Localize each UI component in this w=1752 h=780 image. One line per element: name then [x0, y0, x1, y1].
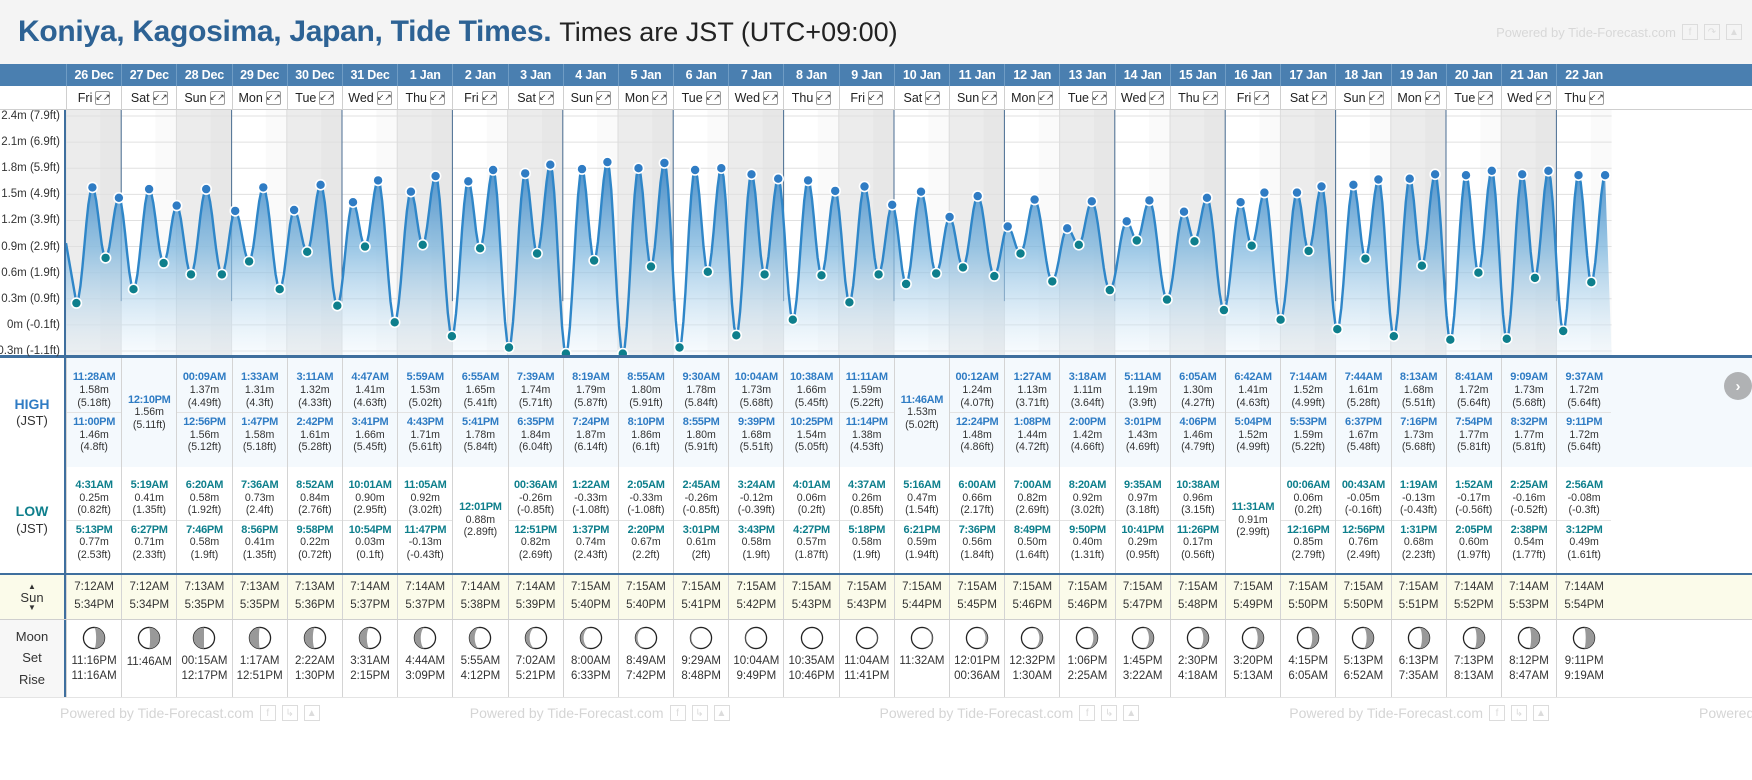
tide-event-meters: 1.61m: [300, 429, 329, 442]
low-tide-point[interactable]: [675, 343, 685, 353]
sunset-time: 5:51PM: [1399, 599, 1439, 613]
low-tide-cell[interactable]: 10:38AM0.96m(3.15ft)11:26PM0.17m(0.56ft): [1170, 467, 1225, 573]
low-tide-cell[interactable]: 7:00AM0.82m(2.69ft)8:49PM0.50m(1.64ft): [1004, 467, 1059, 573]
low-tide-point[interactable]: [1190, 236, 1200, 246]
high-tide-point[interactable]: [1600, 170, 1610, 180]
tide-event-time: 10:01AM: [348, 479, 391, 492]
low-tide-point[interactable]: [1530, 273, 1540, 283]
low-tide-point[interactable]: [1219, 305, 1229, 315]
high-tide-point[interactable]: [1144, 195, 1154, 205]
high-tide-cell[interactable]: 8:13AM1.68m(5.51ft)7:16PM1.73m(5.68ft): [1391, 358, 1446, 467]
high-tide-point[interactable]: [258, 182, 268, 192]
high-tide-point[interactable]: [520, 168, 530, 178]
sun-cell: 7:15AM5:42PM: [728, 575, 783, 619]
high-tide-point[interactable]: [602, 157, 612, 167]
low-tide-cell[interactable]: 1:19AM-0.13m(-0.43ft)1:31PM0.68m(2.23ft): [1391, 467, 1446, 573]
date-header-cell[interactable]: 22 Jan: [1556, 64, 1611, 86]
weekday-header-cell[interactable]: Mon↙↗: [232, 86, 287, 109]
high-tide-point[interactable]: [406, 187, 416, 197]
high-tide-point[interactable]: [887, 200, 897, 210]
high-tide-point[interactable]: [201, 184, 211, 194]
high-tide-point[interactable]: [973, 191, 983, 201]
high-tide-point[interactable]: [230, 206, 240, 216]
moon-cell: 6:13PM7:35AM: [1391, 620, 1446, 697]
low-tide-point[interactable]: [1162, 295, 1172, 305]
sun-cell: 7:15AM5:40PM: [618, 575, 673, 619]
high-tide-cell[interactable]: 10:04AM1.73m(5.68ft)9:39PM1.68m(5.51ft): [728, 358, 783, 467]
low-tide-cell[interactable]: 1:52AM-0.17m(-0.56ft)2:05PM0.60m(1.97ft): [1446, 467, 1501, 573]
high-tide-cell[interactable]: 9:30AM1.78m(5.84ft)8:55PM1.80m(5.91ft): [673, 358, 728, 467]
expand-icon[interactable]: ↙↗: [1149, 91, 1164, 105]
low-tide-point[interactable]: [418, 240, 428, 250]
expand-icon[interactable]: ↙↗: [706, 91, 721, 105]
low-tide-point[interactable]: [931, 269, 941, 279]
expand-icon[interactable]: ↙↗: [210, 91, 225, 105]
high-tide-cell[interactable]: 8:55AM1.80m(5.91ft)8:10PM1.86m(6.1ft): [618, 358, 673, 467]
weekday-header-cell[interactable]: Wed↙↗: [728, 86, 783, 109]
high-tide-cell[interactable]: 11:46AM1.53m(5.02ft): [894, 358, 949, 467]
low-tide-point[interactable]: [618, 349, 628, 355]
weekday-header-cell[interactable]: Tue↙↗: [287, 86, 342, 109]
low-tide-point[interactable]: [1445, 335, 1455, 345]
high-tide-cell[interactable]: 3:18AM1.11m(3.64ft)2:00PM1.42m(4.66ft): [1059, 358, 1114, 467]
low-tide-cell[interactable]: 9:35AM0.97m(3.18ft)10:41PM0.29m(0.95ft): [1115, 467, 1170, 573]
high-tide-point[interactable]: [1461, 170, 1471, 180]
low-tide-point[interactable]: [1360, 254, 1370, 264]
high-tide-cell[interactable]: 6:05AM1.30m(4.27ft)4:06PM1.46m(4.79ft): [1170, 358, 1225, 467]
low-tide-point[interactable]: [817, 270, 827, 280]
next-page-arrow-icon[interactable]: ›: [1724, 372, 1752, 400]
low-tide-point[interactable]: [360, 242, 370, 252]
low-tide-cell[interactable]: 3:24AM-0.12m(-0.39ft)3:43PM0.58m(1.9ft): [728, 467, 783, 573]
moonset-time: 5:55AM: [461, 655, 501, 669]
weekday-header-cell[interactable]: Mon↙↗: [618, 86, 673, 109]
tide-event: 7:14AM1.52m(4.99ft): [1281, 371, 1335, 409]
low-tide-cell[interactable]: 11:31AM0.91m(2.99ft): [1225, 467, 1280, 573]
low-tide-cell[interactable]: 6:00AM0.66m(2.17ft)7:36PM0.56m(1.84ft): [949, 467, 1004, 573]
expand-icon[interactable]: ↙↗: [1312, 91, 1327, 105]
high-tide-point[interactable]: [945, 212, 955, 222]
expand-icon[interactable]: ↙↗: [319, 91, 334, 105]
sun-cell: 7:13AM5:35PM: [176, 575, 231, 619]
low-tide-point[interactable]: [244, 256, 254, 266]
date-header-cell[interactable]: 4 Jan: [563, 64, 618, 86]
high-tide-point[interactable]: [916, 187, 926, 197]
date-header-cell[interactable]: 6 Jan: [673, 64, 728, 86]
sun-cell: 7:14AM5:38PM: [452, 575, 507, 619]
high-tide-cell[interactable]: 7:14AM1.52m(4.99ft)5:53PM1.59m(5.22ft): [1280, 358, 1335, 467]
high-tide-point[interactable]: [463, 176, 473, 186]
low-tide-cell[interactable]: 00:06AM0.06m(0.2ft)12:16PM0.85m(2.79ft): [1280, 467, 1335, 573]
low-tide-point[interactable]: [646, 262, 656, 272]
high-tide-point[interactable]: [1517, 169, 1527, 179]
date-header-cell[interactable]: 28 Dec: [176, 64, 231, 86]
high-tide-point[interactable]: [1236, 197, 1246, 207]
high-tide-point[interactable]: [1574, 170, 1584, 180]
high-tide-point[interactable]: [1543, 166, 1553, 176]
low-tide-point[interactable]: [186, 269, 196, 279]
low-tide-cell[interactable]: 2:45AM-0.26m(-0.85ft)3:01PM0.61m(2ft): [673, 467, 728, 573]
high-tide-point[interactable]: [860, 182, 870, 192]
high-tide-point[interactable]: [690, 165, 700, 175]
high-tide-point[interactable]: [1405, 174, 1415, 184]
high-tide-point[interactable]: [577, 164, 587, 174]
low-tide-point[interactable]: [1074, 240, 1084, 250]
weekday-header-cell[interactable]: Sat↙↗: [1280, 86, 1335, 109]
low-tide-point[interactable]: [390, 317, 400, 327]
low-tide-cell[interactable]: 10:01AM0.90m(2.95ft)10:54PM0.03m(0.1ft): [342, 467, 397, 573]
low-tide-point[interactable]: [1332, 324, 1342, 334]
high-tide-cell[interactable]: 10:38AM1.66m(5.45ft)10:25PM1.54m(5.05ft): [783, 358, 838, 467]
high-tide-point[interactable]: [1202, 193, 1212, 203]
low-tide-point[interactable]: [989, 271, 999, 281]
tide-event: 7:46PM0.58m(1.9ft): [177, 520, 231, 562]
weekday-header-cell[interactable]: Fri↙↗: [839, 86, 894, 109]
expand-icon[interactable]: ↙↗: [153, 91, 168, 105]
low-tide-point[interactable]: [788, 315, 798, 325]
low-tide-cell[interactable]: 2:25AM-0.16m(-0.52ft)2:38PM0.54m(1.77ft): [1501, 467, 1556, 573]
high-tide-point[interactable]: [1122, 216, 1132, 226]
moon-rise-label: Rise: [19, 672, 45, 688]
high-tide-cell[interactable]: 00:09AM1.37m(4.49ft)12:56PM1.56m(5.12ft): [176, 358, 231, 467]
low-tide-point[interactable]: [101, 253, 111, 263]
high-tide-point[interactable]: [634, 163, 644, 173]
expand-icon[interactable]: ↙↗: [1589, 91, 1604, 105]
low-tide-point[interactable]: [1473, 268, 1483, 278]
tide-event-feet: (-0.43ft): [1400, 504, 1437, 517]
low-tide-cell[interactable]: 2:56AM-0.08m(-0.3ft)3:12PM0.49m(1.61ft): [1556, 467, 1611, 573]
date-header-cell[interactable]: 21 Jan: [1501, 64, 1556, 86]
high-tide-point[interactable]: [316, 180, 326, 190]
tide-event-time: 4:37AM: [848, 479, 885, 492]
weekday-header-cell[interactable]: Mon↙↗: [1004, 86, 1059, 109]
low-tide-point[interactable]: [1558, 326, 1568, 336]
weekday-header-cell[interactable]: Tue↙↗: [673, 86, 728, 109]
high-tide-point[interactable]: [144, 184, 154, 194]
date-header-cell[interactable]: 1 Jan: [397, 64, 452, 86]
moon-phase-icon: [909, 625, 935, 651]
date-header-cell[interactable]: 18 Jan: [1335, 64, 1390, 86]
tide-event-time: 8:19AM: [572, 371, 609, 384]
expand-icon[interactable]: ↙↗: [430, 91, 445, 105]
expand-icon[interactable]: ↙↗: [95, 91, 110, 105]
low-tide-cell[interactable]: 11:05AM0.92m(3.02ft)11:47PM-0.13m(-0.43f…: [397, 467, 452, 573]
low-tide-cell[interactable]: 00:43AM-0.05m(-0.16ft)12:56PM0.76m(2.49f…: [1335, 467, 1390, 573]
moonset-time: 11:32AM: [899, 655, 944, 669]
high-tide-point[interactable]: [1003, 222, 1013, 232]
moon-phase-icon: [1185, 625, 1211, 651]
weekday-header-cell[interactable]: Thu↙↗: [1170, 86, 1225, 109]
high-tide-point[interactable]: [747, 169, 757, 179]
tide-event-time: 6:35PM: [517, 416, 554, 429]
weekday-header-cell[interactable]: Tue↙↗: [1059, 86, 1114, 109]
low-tide-point[interactable]: [217, 269, 227, 279]
high-tide-cell[interactable]: 5:11AM1.19m(3.9ft)3:01PM1.43m(4.69ft): [1115, 358, 1170, 467]
low-tide-point[interactable]: [475, 243, 485, 253]
high-tide-cell[interactable]: 5:59AM1.53m(5.02ft)4:43PM1.71m(5.61ft): [397, 358, 452, 467]
weekday-header-cell[interactable]: Sun↙↗: [1335, 86, 1390, 109]
date-header-cell[interactable]: 8 Jan: [783, 64, 838, 86]
low-tide-cell[interactable]: 2:05AM-0.33m(-1.08ft)2:20PM0.67m(2.2ft): [618, 467, 673, 573]
low-tide-point[interactable]: [504, 343, 514, 353]
expand-icon[interactable]: ↙↗: [539, 91, 554, 105]
low-tide-point[interactable]: [589, 256, 599, 266]
expand-icon[interactable]: ↙↗: [377, 91, 392, 105]
low-tide-point[interactable]: [1047, 276, 1057, 286]
tide-event: 1:27AM1.13m(3.71ft): [1005, 371, 1059, 409]
expand-icon[interactable]: ↙↗: [652, 91, 667, 105]
weekday-text: Mon: [238, 91, 262, 105]
low-tide-cell[interactable]: 8:20AM0.92m(3.02ft)9:50PM0.40m(1.31ft): [1059, 467, 1114, 573]
high-tide-point[interactable]: [373, 175, 383, 185]
low-tide-cell[interactable]: 00:36AM-0.26m(-0.85ft)12:51PM0.82m(2.69f…: [508, 467, 563, 573]
weekday-header-cell[interactable]: Sat↙↗: [508, 86, 563, 109]
high-tide-cell[interactable]: 1:27AM1.13m(3.71ft)1:08PM1.44m(4.72ft): [1004, 358, 1059, 467]
date-header-cell[interactable]: 20 Jan: [1446, 64, 1501, 86]
low-tide-point[interactable]: [874, 269, 884, 279]
expand-icon[interactable]: ↙↗: [1254, 91, 1269, 105]
low-tide-point[interactable]: [332, 301, 342, 311]
high-tide-point[interactable]: [488, 165, 498, 175]
date-header-cell[interactable]: 16 Jan: [1225, 64, 1280, 86]
weekday-header-cell[interactable]: Fri↙↗: [452, 86, 507, 109]
low-tide-point[interactable]: [71, 298, 81, 308]
expand-icon[interactable]: ↙↗: [266, 91, 281, 105]
high-tide-point[interactable]: [1373, 175, 1383, 185]
low-tide-cell[interactable]: 12:01PM0.88m(2.89ft): [452, 467, 507, 573]
tide-event-time: 5:11AM: [1124, 371, 1161, 384]
weekday-header-cell[interactable]: Thu↙↗: [783, 86, 838, 109]
high-tide-point[interactable]: [1487, 166, 1497, 176]
tide-event-meters: 0.92m: [410, 492, 439, 505]
low-tide-point[interactable]: [1502, 334, 1512, 344]
low-tide-point[interactable]: [958, 262, 968, 272]
high-tide-point[interactable]: [803, 175, 813, 185]
expand-icon[interactable]: ↙↗: [1038, 91, 1053, 105]
date-header-cell[interactable]: 19 Jan: [1391, 64, 1446, 86]
date-header-cell[interactable]: 2 Jan: [452, 64, 507, 86]
high-tide-cell[interactable]: 9:37AM1.72m(5.64ft)9:11PM1.72m(5.64ft): [1556, 358, 1611, 467]
tide-event: 5:13PM0.77m(2.53ft): [67, 520, 121, 562]
date-header-cell[interactable]: 17 Jan: [1280, 64, 1335, 86]
expand-icon[interactable]: ↙↗: [982, 91, 997, 105]
expand-icon[interactable]: ↙↗: [1092, 91, 1107, 105]
high-tide-point[interactable]: [716, 163, 726, 173]
high-tide-point[interactable]: [1062, 223, 1072, 233]
expand-icon[interactable]: ↙↗: [868, 91, 883, 105]
low-tide-cell[interactable]: 1:22AM-0.33m(-1.08ft)1:37PM0.74m(2.43ft): [563, 467, 618, 573]
high-tide-cell[interactable]: 3:11AM1.32m(4.33ft)2:42PM1.61m(5.28ft): [287, 358, 342, 467]
moon-cell: 12:32PM1:30AM: [1004, 620, 1059, 697]
weekday-header-cell[interactable]: Fri↙↗: [66, 86, 121, 109]
high-tide-cell[interactable]: 7:44AM1.61m(5.28ft)6:37PM1.67m(5.48ft): [1335, 358, 1390, 467]
low-tide-point[interactable]: [1132, 236, 1142, 246]
high-tide-cell[interactable]: 12:10PM1.56m(5.11ft): [121, 358, 176, 467]
low-tide-cell[interactable]: 4:01AM0.06m(0.2ft)4:27PM0.57m(1.87ft): [783, 467, 838, 573]
low-tide-point[interactable]: [159, 258, 169, 268]
expand-icon[interactable]: ↙↗: [763, 91, 778, 105]
high-tide-point[interactable]: [114, 193, 124, 203]
date-header-cell[interactable]: 15 Jan: [1170, 64, 1225, 86]
low-tide-point[interactable]: [1586, 277, 1596, 287]
low-tide-point[interactable]: [1389, 331, 1399, 341]
high-tide-cell[interactable]: 11:28AM1.58m(5.18ft)11:00PM1.46m(4.8ft): [66, 358, 121, 467]
weekday-header-cell[interactable]: Thu↙↗: [1556, 86, 1611, 109]
date-header-cell[interactable]: 27 Dec: [121, 64, 176, 86]
tide-event-feet: (0.72ft): [298, 549, 332, 562]
high-tide-cell[interactable]: 9:09AM1.73m(5.68ft)8:32PM1.77m(5.81ft): [1501, 358, 1556, 467]
high-tide-point[interactable]: [1348, 180, 1358, 190]
tide-event-meters: 1.87m: [576, 429, 605, 442]
high-tide-point[interactable]: [1030, 195, 1040, 205]
low-tide-point[interactable]: [561, 349, 571, 355]
high-tide-point[interactable]: [1430, 169, 1440, 179]
high-tide-point[interactable]: [773, 174, 783, 184]
high-tide-cell[interactable]: 6:55AM1.65m(5.41ft)5:41PM1.78m(5.84ft): [452, 358, 507, 467]
high-tide-point[interactable]: [1179, 207, 1189, 217]
weekday-header-cell[interactable]: Sun↙↗: [176, 86, 231, 109]
footer-watermark-text: Powered by Tide-Forecast.com: [60, 705, 254, 721]
tide-event-meters: 1.79m: [576, 384, 605, 397]
low-tide-cell[interactable]: 8:52AM0.84m(2.76ft)9:58PM0.22m(0.72ft): [287, 467, 342, 573]
high-tide-point[interactable]: [545, 160, 555, 170]
weekday-header-cell[interactable]: Fri↙↗: [1225, 86, 1280, 109]
tide-event-feet: (-0.16ft): [1345, 504, 1382, 517]
low-tide-point[interactable]: [1105, 285, 1115, 295]
high-tide-point[interactable]: [830, 186, 840, 196]
high-tide-point[interactable]: [1292, 188, 1302, 198]
date-header-cell[interactable]: 11 Jan: [949, 64, 1004, 86]
sun-cell: 7:15AM5:40PM: [563, 575, 618, 619]
tide-event-meters: -0.13m: [409, 536, 442, 549]
low-tide-point[interactable]: [302, 247, 312, 257]
high-tide-cell[interactable]: 8:41AM1.72m(5.64ft)7:54PM1.77m(5.81ft): [1446, 358, 1501, 467]
date-header-cell[interactable]: 5 Jan: [618, 64, 673, 86]
high-tide-cell[interactable]: 00:12AM1.24m(4.07ft)12:24PM1.48m(4.86ft): [949, 358, 1004, 467]
low-tide-cell[interactable]: 4:37AM0.26m(0.85ft)5:18PM0.58m(1.9ft): [839, 467, 894, 573]
low-tide-cell[interactable]: 5:19AM0.41m(1.35ft)6:27PM0.71m(2.33ft): [121, 467, 176, 573]
tide-event-meters: 1.72m: [1569, 429, 1598, 442]
date-header-cell[interactable]: 14 Jan: [1115, 64, 1170, 86]
tide-event-feet: (0.85ft): [850, 504, 884, 517]
weekday-header-cell[interactable]: Sat↙↗: [894, 86, 949, 109]
sunrise-time: 7:12AM: [129, 581, 169, 595]
tide-event-time: 5:41PM: [462, 416, 499, 429]
low-tide-point[interactable]: [129, 284, 139, 294]
low-tide-point[interactable]: [760, 269, 770, 279]
high-tide-cell[interactable]: 1:33AM1.31m(4.3ft)1:47PM1.58m(5.18ft): [232, 358, 287, 467]
date-header-cell[interactable]: 9 Jan: [839, 64, 894, 86]
expand-icon[interactable]: ↙↗: [1478, 91, 1493, 105]
expand-icon[interactable]: ↙↗: [1369, 91, 1384, 105]
weekday-header-cell[interactable]: Wed↙↗: [1115, 86, 1170, 109]
low-tide-point[interactable]: [447, 331, 457, 341]
footer-watermark: Powered by Tide-Forecast.comf↳▲: [880, 705, 1140, 721]
low-tide-cell[interactable]: 4:31AM0.25m(0.82ft)5:13PM0.77m(2.53ft): [66, 467, 121, 573]
low-tide-cell[interactable]: 5:16AM0.47m(1.54ft)6:21PM0.59m(1.94ft): [894, 467, 949, 573]
weekday-header-cell[interactable]: Thu↙↗: [397, 86, 452, 109]
low-tide-point[interactable]: [703, 267, 713, 277]
expand-icon[interactable]: ↙↗: [1536, 91, 1551, 105]
low-tide-point[interactable]: [1417, 261, 1427, 271]
tide-event-feet: (5.22ft): [850, 397, 884, 410]
expand-icon[interactable]: ↙↗: [816, 91, 831, 105]
date-header-cell[interactable]: 30 Dec: [287, 64, 342, 86]
low-tide-point[interactable]: [1276, 315, 1286, 325]
low-tide-point[interactable]: [1247, 241, 1257, 251]
expand-icon[interactable]: ↙↗: [596, 91, 611, 105]
date-header-cell[interactable]: 13 Jan: [1059, 64, 1114, 86]
weekday-header-cell[interactable]: Sun↙↗: [563, 86, 618, 109]
date-header-cell[interactable]: 3 Jan: [508, 64, 563, 86]
tide-plot-area[interactable]: [66, 110, 1752, 355]
high-tide-point[interactable]: [348, 197, 358, 207]
high-tide-cell[interactable]: 11:11AM1.59m(5.22ft)11:14PM1.38m(4.53ft): [839, 358, 894, 467]
high-tide-cell[interactable]: 6:42AM1.41m(4.63ft)5:04PM1.52m(4.99ft): [1225, 358, 1280, 467]
weekday-header-cell[interactable]: Sat↙↗: [121, 86, 176, 109]
expand-icon[interactable]: ↙↗: [925, 91, 940, 105]
low-tide-point[interactable]: [901, 279, 911, 289]
tide-event: 7:39AM1.74m(5.71ft): [509, 371, 563, 409]
moon-phase-icon: [1295, 625, 1321, 651]
low-tide-point[interactable]: [1016, 249, 1026, 259]
high-tide-cell[interactable]: 7:39AM1.74m(5.71ft)6:35PM1.84m(6.04ft): [508, 358, 563, 467]
high-tide-point[interactable]: [87, 182, 97, 192]
moon-phase-icon: [1461, 625, 1487, 651]
sunrise-time: 7:14AM: [405, 581, 445, 595]
date-header-cell[interactable]: 26 Dec: [66, 64, 121, 86]
y-axis-tick-label: 1.2m (3.9ft): [1, 214, 60, 226]
weekday-header-cell[interactable]: Wed↙↗: [342, 86, 397, 109]
expand-icon[interactable]: ↙↗: [482, 91, 497, 105]
high-tide-point[interactable]: [431, 171, 441, 181]
expand-icon[interactable]: ↙↗: [1203, 91, 1218, 105]
weekday-header-cell[interactable]: Mon↙↗: [1391, 86, 1446, 109]
tide-event-feet: (-0.3ft): [1569, 504, 1600, 517]
tide-event-feet: (4.72ft): [1016, 441, 1050, 454]
moon-phase-icon: [357, 625, 383, 651]
date-header-cell[interactable]: 29 Dec: [232, 64, 287, 86]
low-tide-cell[interactable]: 7:36AM0.73m(2.4ft)8:56PM0.41m(1.35ft): [232, 467, 287, 573]
low-tide-point[interactable]: [275, 284, 285, 294]
high-tide-point[interactable]: [1317, 182, 1327, 192]
low-tide-point[interactable]: [844, 297, 854, 307]
high-tide-point[interactable]: [172, 201, 182, 211]
tide-event-feet: (1.31ft): [1071, 549, 1105, 562]
high-tide-cell[interactable]: 4:47AM1.41m(4.63ft)3:41PM1.66m(5.45ft): [342, 358, 397, 467]
high-tide-point[interactable]: [1087, 196, 1097, 206]
weekday-header-cell[interactable]: Sun↙↗: [949, 86, 1004, 109]
weekday-header-cell[interactable]: Wed↙↗: [1501, 86, 1556, 109]
tide-event-feet: (5.22ft): [1291, 441, 1325, 454]
high-tide-point[interactable]: [659, 158, 669, 168]
sunset-time: 5:37PM: [405, 599, 445, 613]
low-tide-point[interactable]: [1304, 246, 1314, 256]
low-tide-cell[interactable]: 6:20AM0.58m(1.92ft)7:46PM0.58m(1.9ft): [176, 467, 231, 573]
expand-icon[interactable]: ↙↗: [1425, 91, 1440, 105]
high-tide-cell[interactable]: 8:19AM1.79m(5.87ft)7:24PM1.87m(6.14ft): [563, 358, 618, 467]
low-tide-point[interactable]: [532, 249, 542, 259]
tide-event-meters: 0.25m: [79, 492, 108, 505]
high-tide-point[interactable]: [289, 205, 299, 215]
low-tide-point[interactable]: [731, 330, 741, 340]
date-header-cell[interactable]: 31 Dec: [342, 64, 397, 86]
high-tide-point[interactable]: [1259, 188, 1269, 198]
date-header-cell[interactable]: 7 Jan: [728, 64, 783, 86]
weekday-header-cell[interactable]: Tue↙↗: [1446, 86, 1501, 109]
date-header-cell[interactable]: 10 Jan: [894, 64, 949, 86]
date-header-cell[interactable]: 12 Jan: [1004, 64, 1059, 86]
